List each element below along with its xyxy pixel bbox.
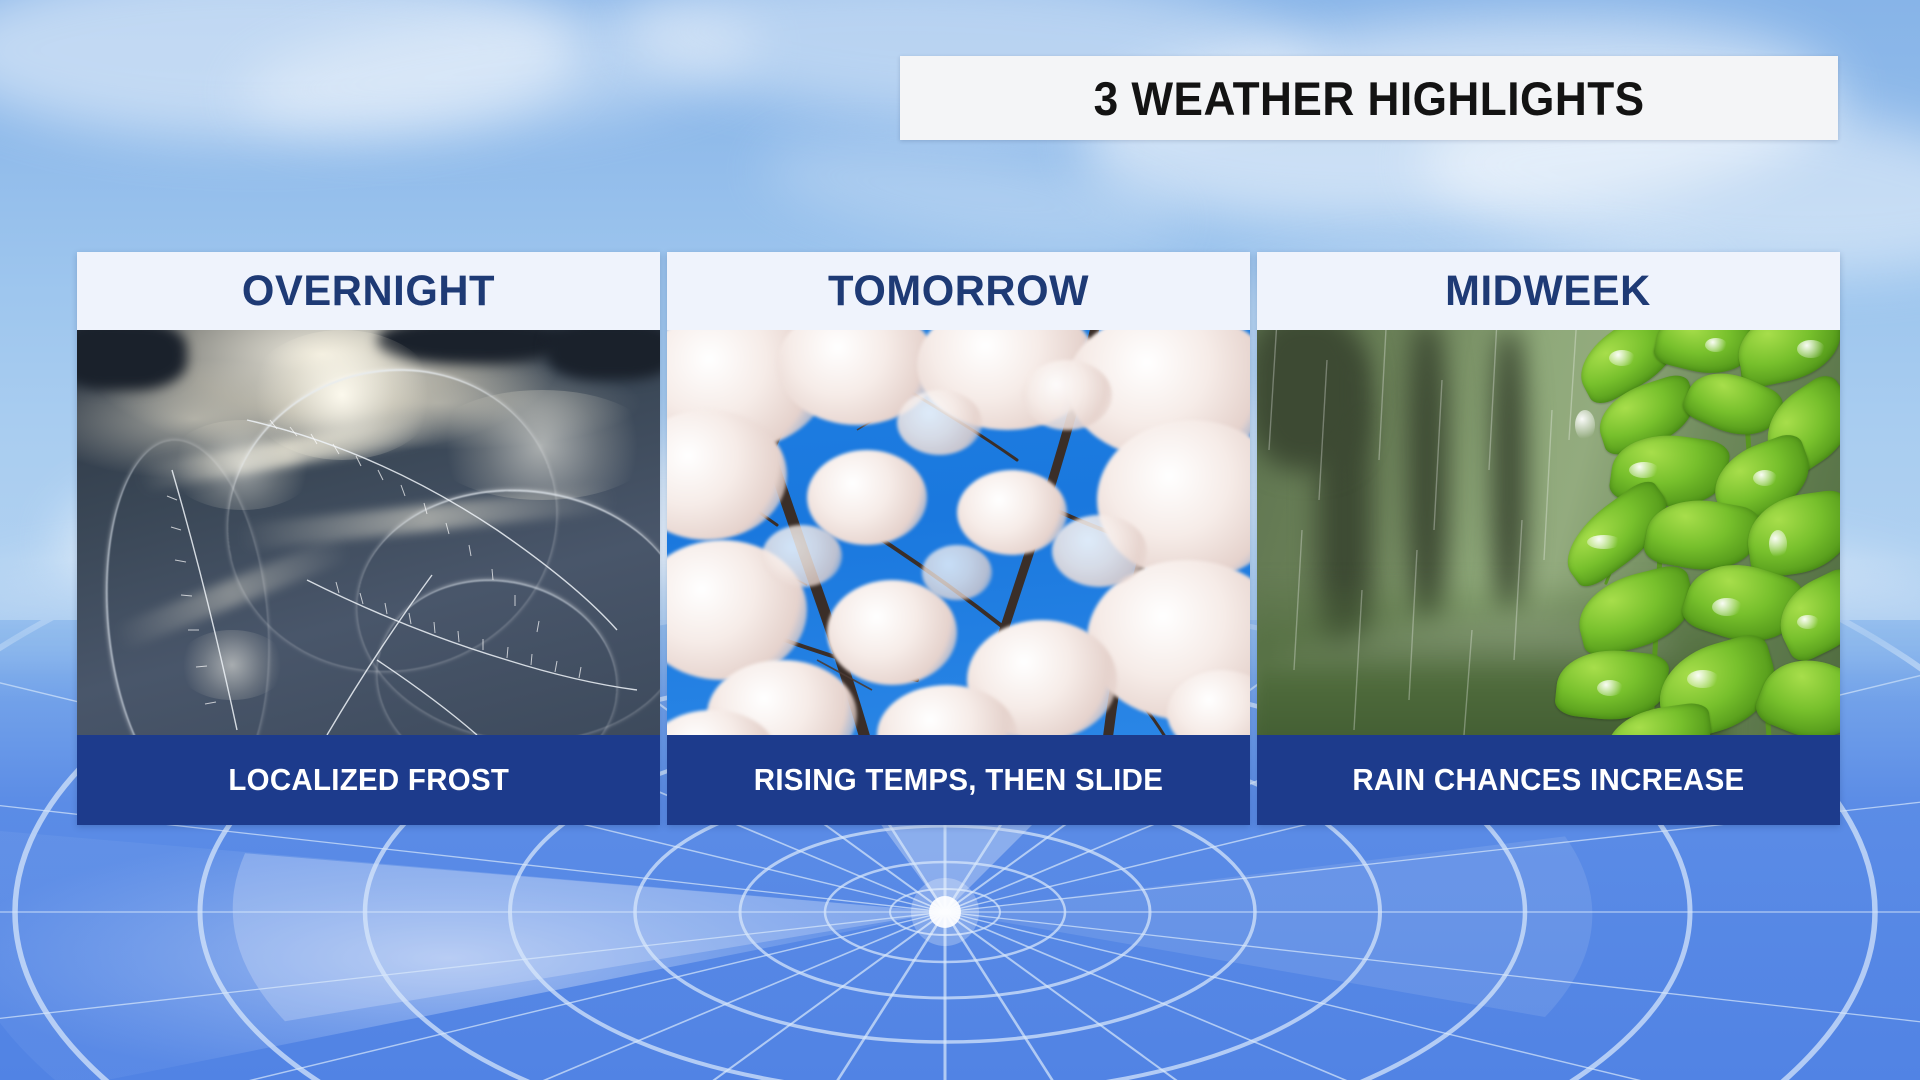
card-caption-label: RISING TEMPS, THEN SLIDE (754, 762, 1163, 798)
card-header-overnight: OVERNIGHT (77, 252, 660, 330)
highlight-card-tomorrow[interactable]: TOMORROW (667, 252, 1250, 825)
water-droplet (1587, 535, 1621, 549)
water-droplet (1687, 670, 1719, 688)
blossom-cluster (1022, 360, 1112, 430)
frost-crystal-overlay (77, 330, 660, 735)
card-caption-overnight: LOCALIZED FROST (77, 735, 660, 825)
blossom-cluster (762, 525, 842, 587)
water-droplet (1797, 340, 1825, 358)
headline-banner: 3 WEATHER HIGHLIGHTS (900, 56, 1838, 140)
highlights-card-row: OVERNIGHT (77, 252, 1840, 825)
frost-photo (77, 330, 660, 735)
card-header-label: TOMORROW (828, 267, 1089, 316)
card-header-label: MIDWEEK (1446, 267, 1652, 316)
water-droplet (1753, 470, 1777, 486)
blossom-cluster (1052, 515, 1147, 587)
card-header-label: OVERNIGHT (242, 267, 495, 316)
highlight-card-overnight[interactable]: OVERNIGHT (77, 252, 660, 825)
blossom-cluster (957, 470, 1067, 555)
page-title: 3 WEATHER HIGHLIGHTS (1093, 71, 1644, 126)
rain-leaves-photo (1257, 330, 1840, 735)
blossom-cluster (897, 390, 982, 455)
water-droplet (1629, 462, 1659, 478)
water-droplet (1575, 410, 1595, 440)
water-droplet (1609, 350, 1635, 366)
card-caption-tomorrow: RISING TEMPS, THEN SLIDE (667, 735, 1250, 825)
card-caption-label: LOCALIZED FROST (228, 762, 509, 798)
water-droplet (1797, 615, 1819, 629)
water-droplet (1769, 530, 1787, 558)
card-header-tomorrow: TOMORROW (667, 252, 1250, 330)
water-droplet (1705, 338, 1727, 352)
card-header-midweek: MIDWEEK (1257, 252, 1840, 330)
card-caption-midweek: RAIN CHANCES INCREASE (1257, 735, 1840, 825)
highlight-card-midweek[interactable]: MIDWEEK (1257, 252, 1840, 825)
card-caption-label: RAIN CHANCES INCREASE (1352, 762, 1744, 798)
water-droplet (1597, 680, 1623, 696)
water-droplet (1712, 598, 1742, 616)
blossom-cluster (922, 545, 992, 600)
cherry-blossom-photo (667, 330, 1250, 735)
